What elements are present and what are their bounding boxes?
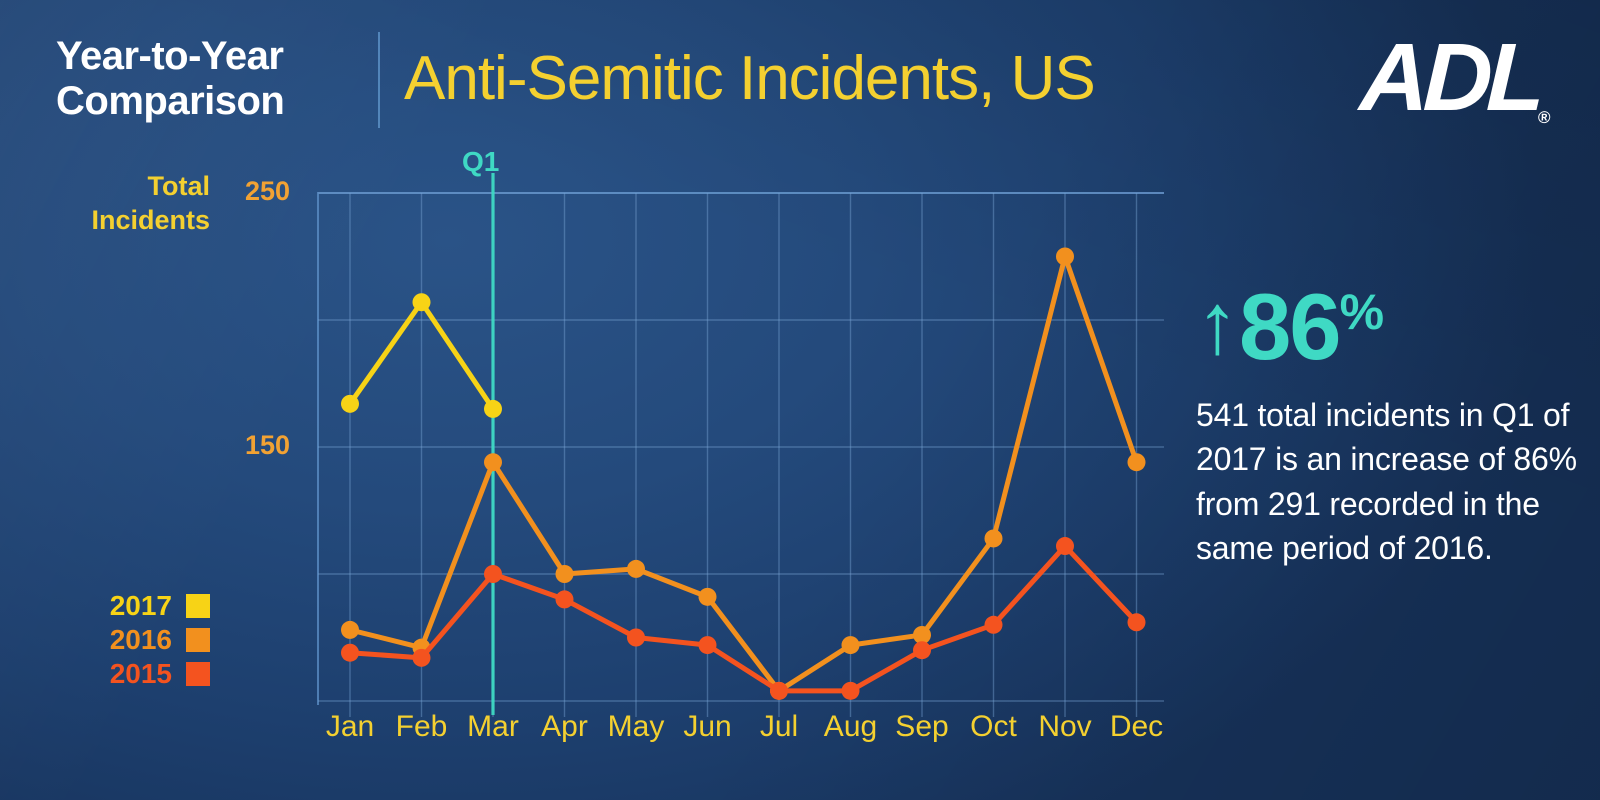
x-axis-month-labels: JanFebMarAprMayJunJulAugSepOctNovDec	[318, 712, 1164, 758]
x-axis-label-jul: Jul	[760, 712, 798, 742]
x-axis-label-aug: Aug	[824, 712, 877, 742]
x-axis-label-jan: Jan	[326, 712, 374, 742]
x-axis-label-feb: Feb	[396, 712, 448, 742]
x-axis-label-apr: Apr	[541, 712, 588, 742]
x-axis-label-oct: Oct	[970, 712, 1017, 742]
x-axis-label-nov: Nov	[1038, 712, 1091, 742]
x-axis-label-sep: Sep	[895, 712, 948, 742]
x-axis-label-dec: Dec	[1110, 712, 1163, 742]
stat-headline: ↑86%	[1196, 282, 1586, 371]
chart-series-layer	[341, 248, 1146, 700]
stat-value: 86	[1239, 282, 1340, 371]
stat-description: 541 total incidents in Q1 of 2017 is an …	[1196, 393, 1586, 570]
x-axis-label-jun: Jun	[683, 712, 731, 742]
stat-percent-sign: %	[1340, 286, 1382, 339]
arrow-up-icon: ↑	[1196, 282, 1237, 366]
stat-callout: ↑86% 541 total incidents in Q1 of 2017 i…	[1196, 282, 1586, 570]
x-axis-label-mar: Mar	[467, 712, 519, 742]
x-axis-label-may: May	[608, 712, 665, 742]
